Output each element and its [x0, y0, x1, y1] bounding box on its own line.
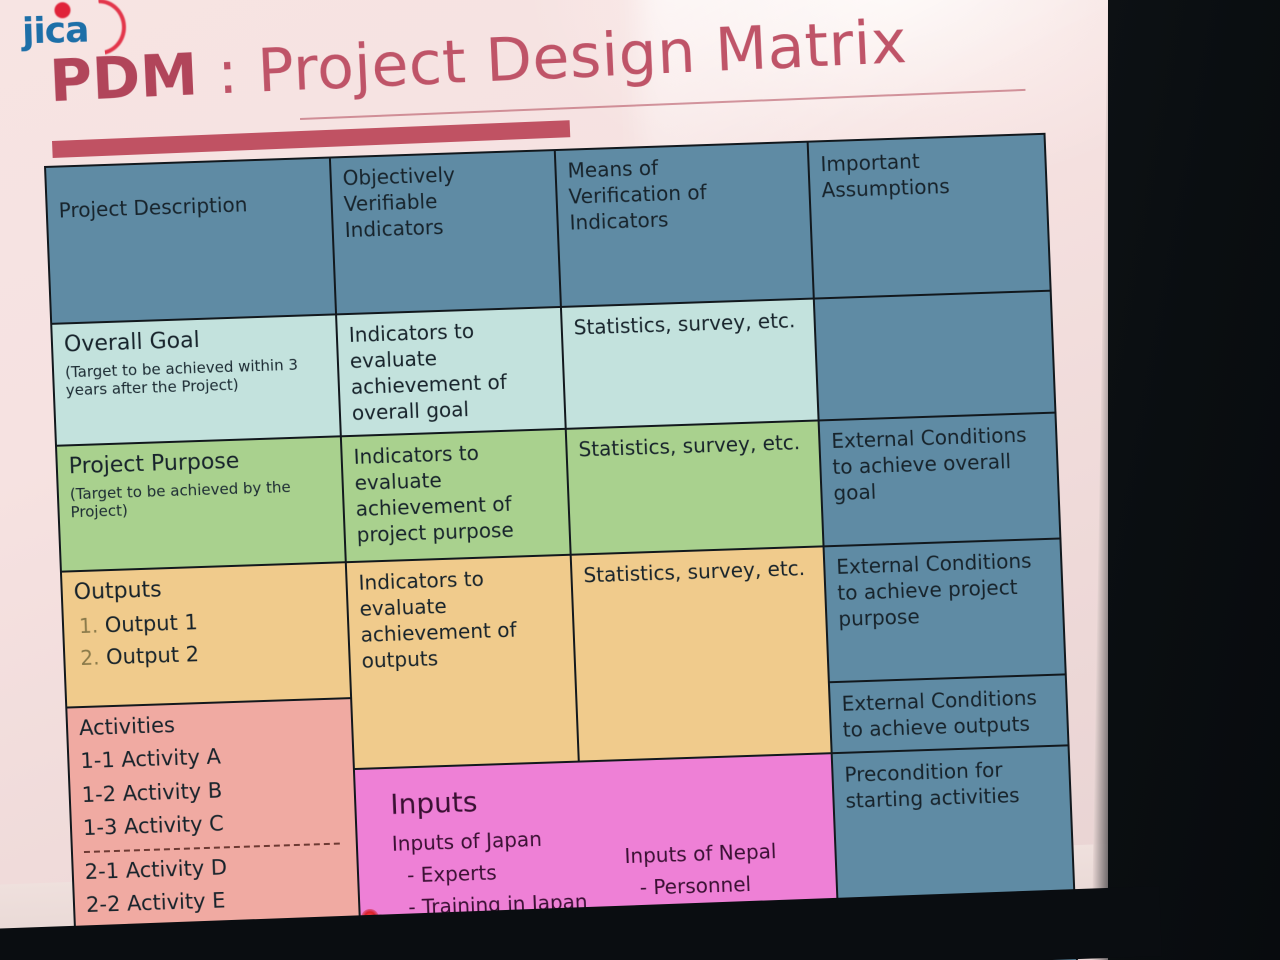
cell-overall-goal-indicators: Indicators to evaluate achievement of ov… [336, 307, 566, 436]
cell-project-purpose-description: Project Purpose (Target to be achieved b… [56, 436, 346, 571]
list-item: 2-2 Activity E [86, 884, 349, 920]
list-item: 1. Output 1 [79, 604, 338, 640]
cell-outputs-description: Outputs 1. Output 1 2. Output 2 [61, 562, 351, 707]
row-subtitle: (Target to be achieved within 3 years af… [65, 354, 328, 399]
inputs-title: Inputs [390, 773, 819, 824]
header-project-description: Project Description [45, 158, 336, 324]
outputs-list: 1. Output 1 2. Output 2 [79, 604, 339, 672]
list-item: 1-1 Activity A [80, 740, 343, 776]
pdm-matrix: Project Description Objectively Verifiab… [44, 133, 1076, 960]
header-means-of-verification: Means of Verification of Indicators [555, 142, 814, 307]
cell-outputs-means: Statistics, survey, etc. [571, 546, 832, 761]
header-line: Indicators [344, 210, 547, 243]
list-item: 2. Output 2 [80, 636, 339, 672]
cell-overall-goal-assumption-empty [814, 291, 1056, 421]
cell-overall-goal-description: Overall Goal (Target to be achieved with… [51, 314, 341, 445]
list-item: 1-2 Activity B [81, 773, 344, 809]
cell-project-purpose-indicators: Indicators to evaluate achievement of pr… [341, 429, 571, 562]
cell-overall-goal-means: Statistics, survey, etc. [561, 299, 819, 429]
output-label: Output 2 [106, 642, 200, 669]
cell-outputs-indicators: Indicators to evaluate achievement of ou… [346, 555, 579, 769]
output-number: 1. [79, 613, 99, 638]
row-title: Outputs [73, 577, 162, 605]
title-separator: : [196, 37, 259, 110]
cell-assumption-project-purpose: External Conditions to achieve project p… [824, 538, 1066, 682]
row-title: Overall Goal [64, 328, 201, 357]
row-title: Activities [79, 706, 342, 742]
title-pdm: PDM [48, 40, 199, 115]
cell-project-purpose-means: Statistics, survey, etc. [566, 420, 824, 554]
list-item: - Personnel [639, 869, 822, 901]
header-objectively-verifiable-indicators: Objectively Verifiable Indicators [330, 150, 561, 314]
cell-assumption-outputs: External Conditions to achieve outputs [829, 674, 1069, 753]
cell-assumption-overall-goal: External Conditions to achieve overall g… [819, 413, 1061, 547]
output-number: 2. [80, 645, 100, 670]
list-item: - Experts [407, 857, 590, 889]
row-subtitle: (Target to be achieved by the Project) [70, 476, 333, 521]
slide-photo: jica PDM : Project Design Matrix Project… [0, 0, 1280, 960]
inputs-japan-heading: Inputs of Japan [391, 825, 588, 857]
activities-group-2: 2-1 Activity D 2-2 Activity E [84, 851, 348, 920]
pdm-table: Project Description Objectively Verifiab… [44, 133, 1078, 960]
list-item: 2-1 Activity D [84, 851, 347, 887]
inputs-nepal-heading: Inputs of Nepal [624, 837, 821, 869]
dark-room-background [1108, 0, 1280, 960]
list-item: 1-3 Activity C [83, 806, 346, 842]
activities-group-1: 1-1 Activity A 1-2 Activity B 1-3 Activi… [80, 740, 346, 843]
header-label: Project Description [58, 192, 248, 222]
row-title: Project Purpose [68, 449, 239, 480]
header-important-assumptions: Important Assumptions [808, 134, 1051, 299]
output-label: Output 1 [104, 610, 198, 637]
